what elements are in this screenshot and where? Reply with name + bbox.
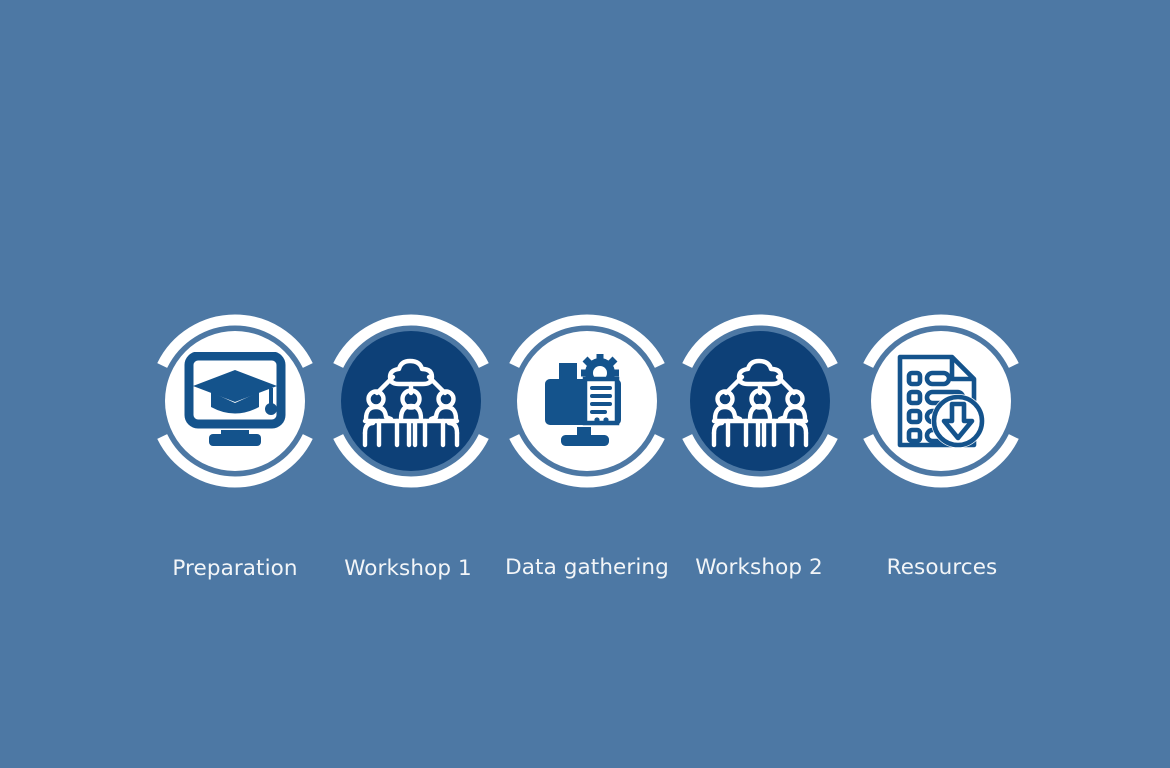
step-circle-1[interactable] xyxy=(165,331,305,471)
checklist-document-download-icon xyxy=(894,351,988,451)
workshop-meeting-icon xyxy=(706,349,814,453)
step-circle-2[interactable] xyxy=(341,331,481,471)
step-circle-3[interactable] xyxy=(517,331,657,471)
workshop-meeting-icon xyxy=(341,331,481,471)
monitor-graduation-cap-icon xyxy=(183,352,287,450)
monitor-download-gear-document-icon xyxy=(517,331,657,471)
step-circle-5[interactable] xyxy=(871,331,1011,471)
monitor-download-gear-document-icon xyxy=(537,351,637,451)
step-circle-4[interactable] xyxy=(690,331,830,471)
workshop-meeting-icon xyxy=(690,331,830,471)
workshop-meeting-icon xyxy=(357,349,465,453)
monitor-graduation-cap-icon xyxy=(165,331,305,471)
checklist-document-download-icon xyxy=(871,331,1011,471)
process-step-track: Preparation Workshop 1 xyxy=(0,0,1170,768)
infographic-canvas: Preparation Workshop 1 xyxy=(0,0,1170,768)
step-label-5: Resources xyxy=(357,555,1170,580)
